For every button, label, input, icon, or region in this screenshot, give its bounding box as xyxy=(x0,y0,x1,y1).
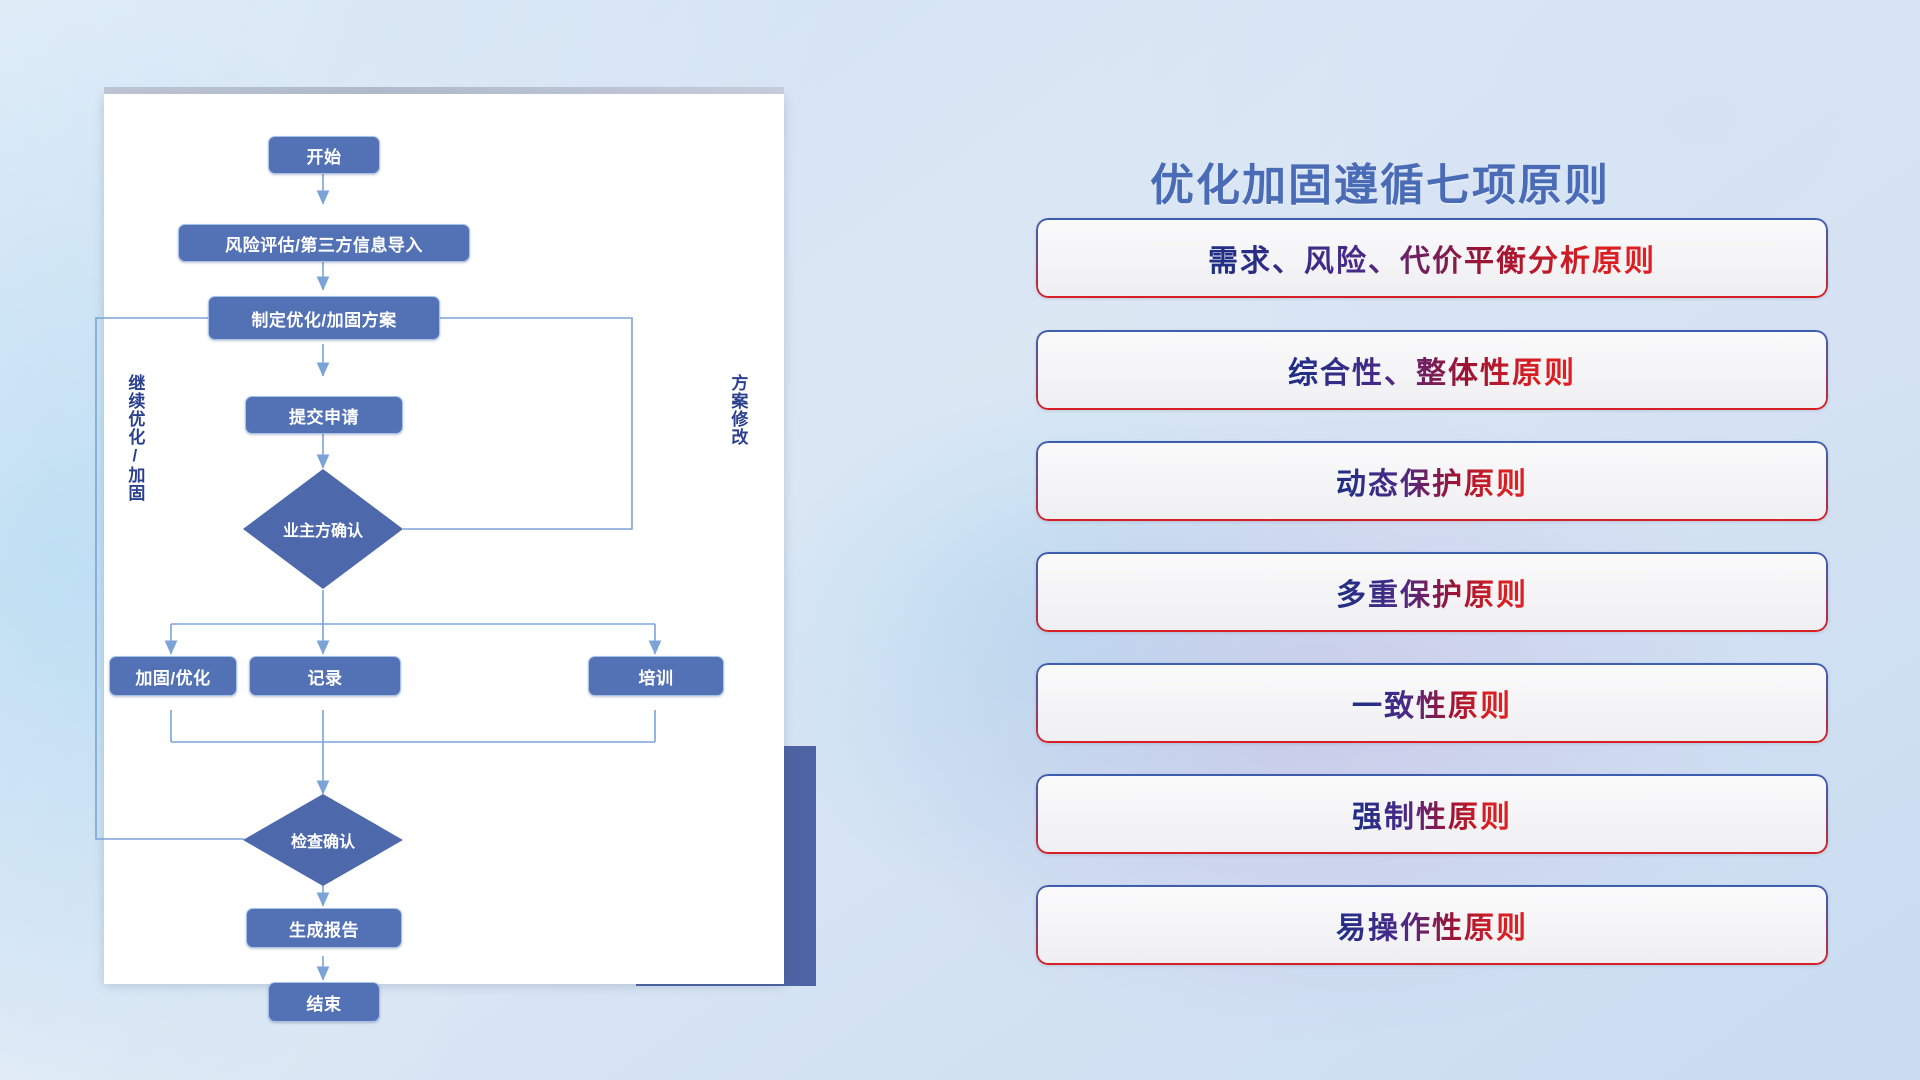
flow-node-submit-application[interactable]: 提交申请 xyxy=(245,396,403,434)
principle-item-4[interactable]: 多重保护原则 xyxy=(1036,552,1828,632)
flow-node-label: 风险评估/第三方信息导入 xyxy=(225,231,423,256)
principle-label: 多重保护原则 xyxy=(1336,570,1528,614)
principle-item-7[interactable]: 易操作性原则 xyxy=(1036,885,1828,965)
flow-node-label: 加固/优化 xyxy=(135,664,210,689)
flow-node-start[interactable]: 开始 xyxy=(268,136,380,174)
flow-node-training[interactable]: 培训 xyxy=(588,656,724,696)
principle-item-3[interactable]: 动态保护原则 xyxy=(1036,441,1828,521)
flow-node-reinforce-optimize[interactable]: 加固/优化 xyxy=(109,656,237,696)
flow-node-risk-assessment[interactable]: 风险评估/第三方信息导入 xyxy=(178,224,470,262)
flow-node-label: 提交申请 xyxy=(289,403,359,428)
page-title: 优化加固遵循七项原则 xyxy=(1150,149,1610,213)
principle-item-5[interactable]: 一致性原则 xyxy=(1036,663,1828,743)
flow-node-record[interactable]: 记录 xyxy=(249,656,401,696)
principle-label: 易操作性原则 xyxy=(1336,903,1528,947)
flow-node-generate-report[interactable]: 生成报告 xyxy=(246,908,402,948)
flow-node-label: 开始 xyxy=(307,143,342,168)
flow-edge-label-plan-revision: 方案修改 xyxy=(729,374,746,446)
flow-node-end[interactable]: 结束 xyxy=(268,982,380,1022)
flow-node-label: 业主方确认 xyxy=(243,469,403,589)
flow-node-label: 记录 xyxy=(308,664,343,689)
flow-decision-inspection-confirm[interactable]: 检查确认 xyxy=(243,794,403,886)
principle-label: 强制性原则 xyxy=(1352,792,1512,836)
principle-label: 综合性、整体性原则 xyxy=(1288,348,1576,392)
principle-item-1[interactable]: 需求、风险、代价平衡分析原则 xyxy=(1036,218,1828,298)
flow-node-plan[interactable]: 制定优化/加固方案 xyxy=(208,296,440,340)
flow-decision-owner-confirm[interactable]: 业主方确认 xyxy=(243,469,403,589)
principles-panel: 优化加固遵循七项原则 需求、风险、代价平衡分析原则 综合性、整体性原则 动态保护… xyxy=(1020,96,1850,996)
flow-edge-label-continue-optimize: 继续优化/加固 xyxy=(126,374,143,502)
card-top-bar xyxy=(104,87,784,94)
principle-item-2[interactable]: 综合性、整体性原则 xyxy=(1036,330,1828,410)
flow-node-label: 生成报告 xyxy=(289,916,359,941)
flow-node-label: 结束 xyxy=(307,990,342,1015)
flow-node-label: 培训 xyxy=(639,664,674,689)
principle-item-6[interactable]: 强制性原则 xyxy=(1036,774,1828,854)
principle-label: 一致性原则 xyxy=(1352,681,1512,725)
flow-node-label: 检查确认 xyxy=(243,794,403,886)
flowchart: 开始 风险评估/第三方信息导入 制定优化/加固方案 提交申请 业主方确认 加固/… xyxy=(104,94,784,984)
principle-label: 需求、风险、代价平衡分析原则 xyxy=(1208,236,1656,280)
principle-label: 动态保护原则 xyxy=(1336,459,1528,503)
flow-node-label: 制定优化/加固方案 xyxy=(251,306,396,331)
